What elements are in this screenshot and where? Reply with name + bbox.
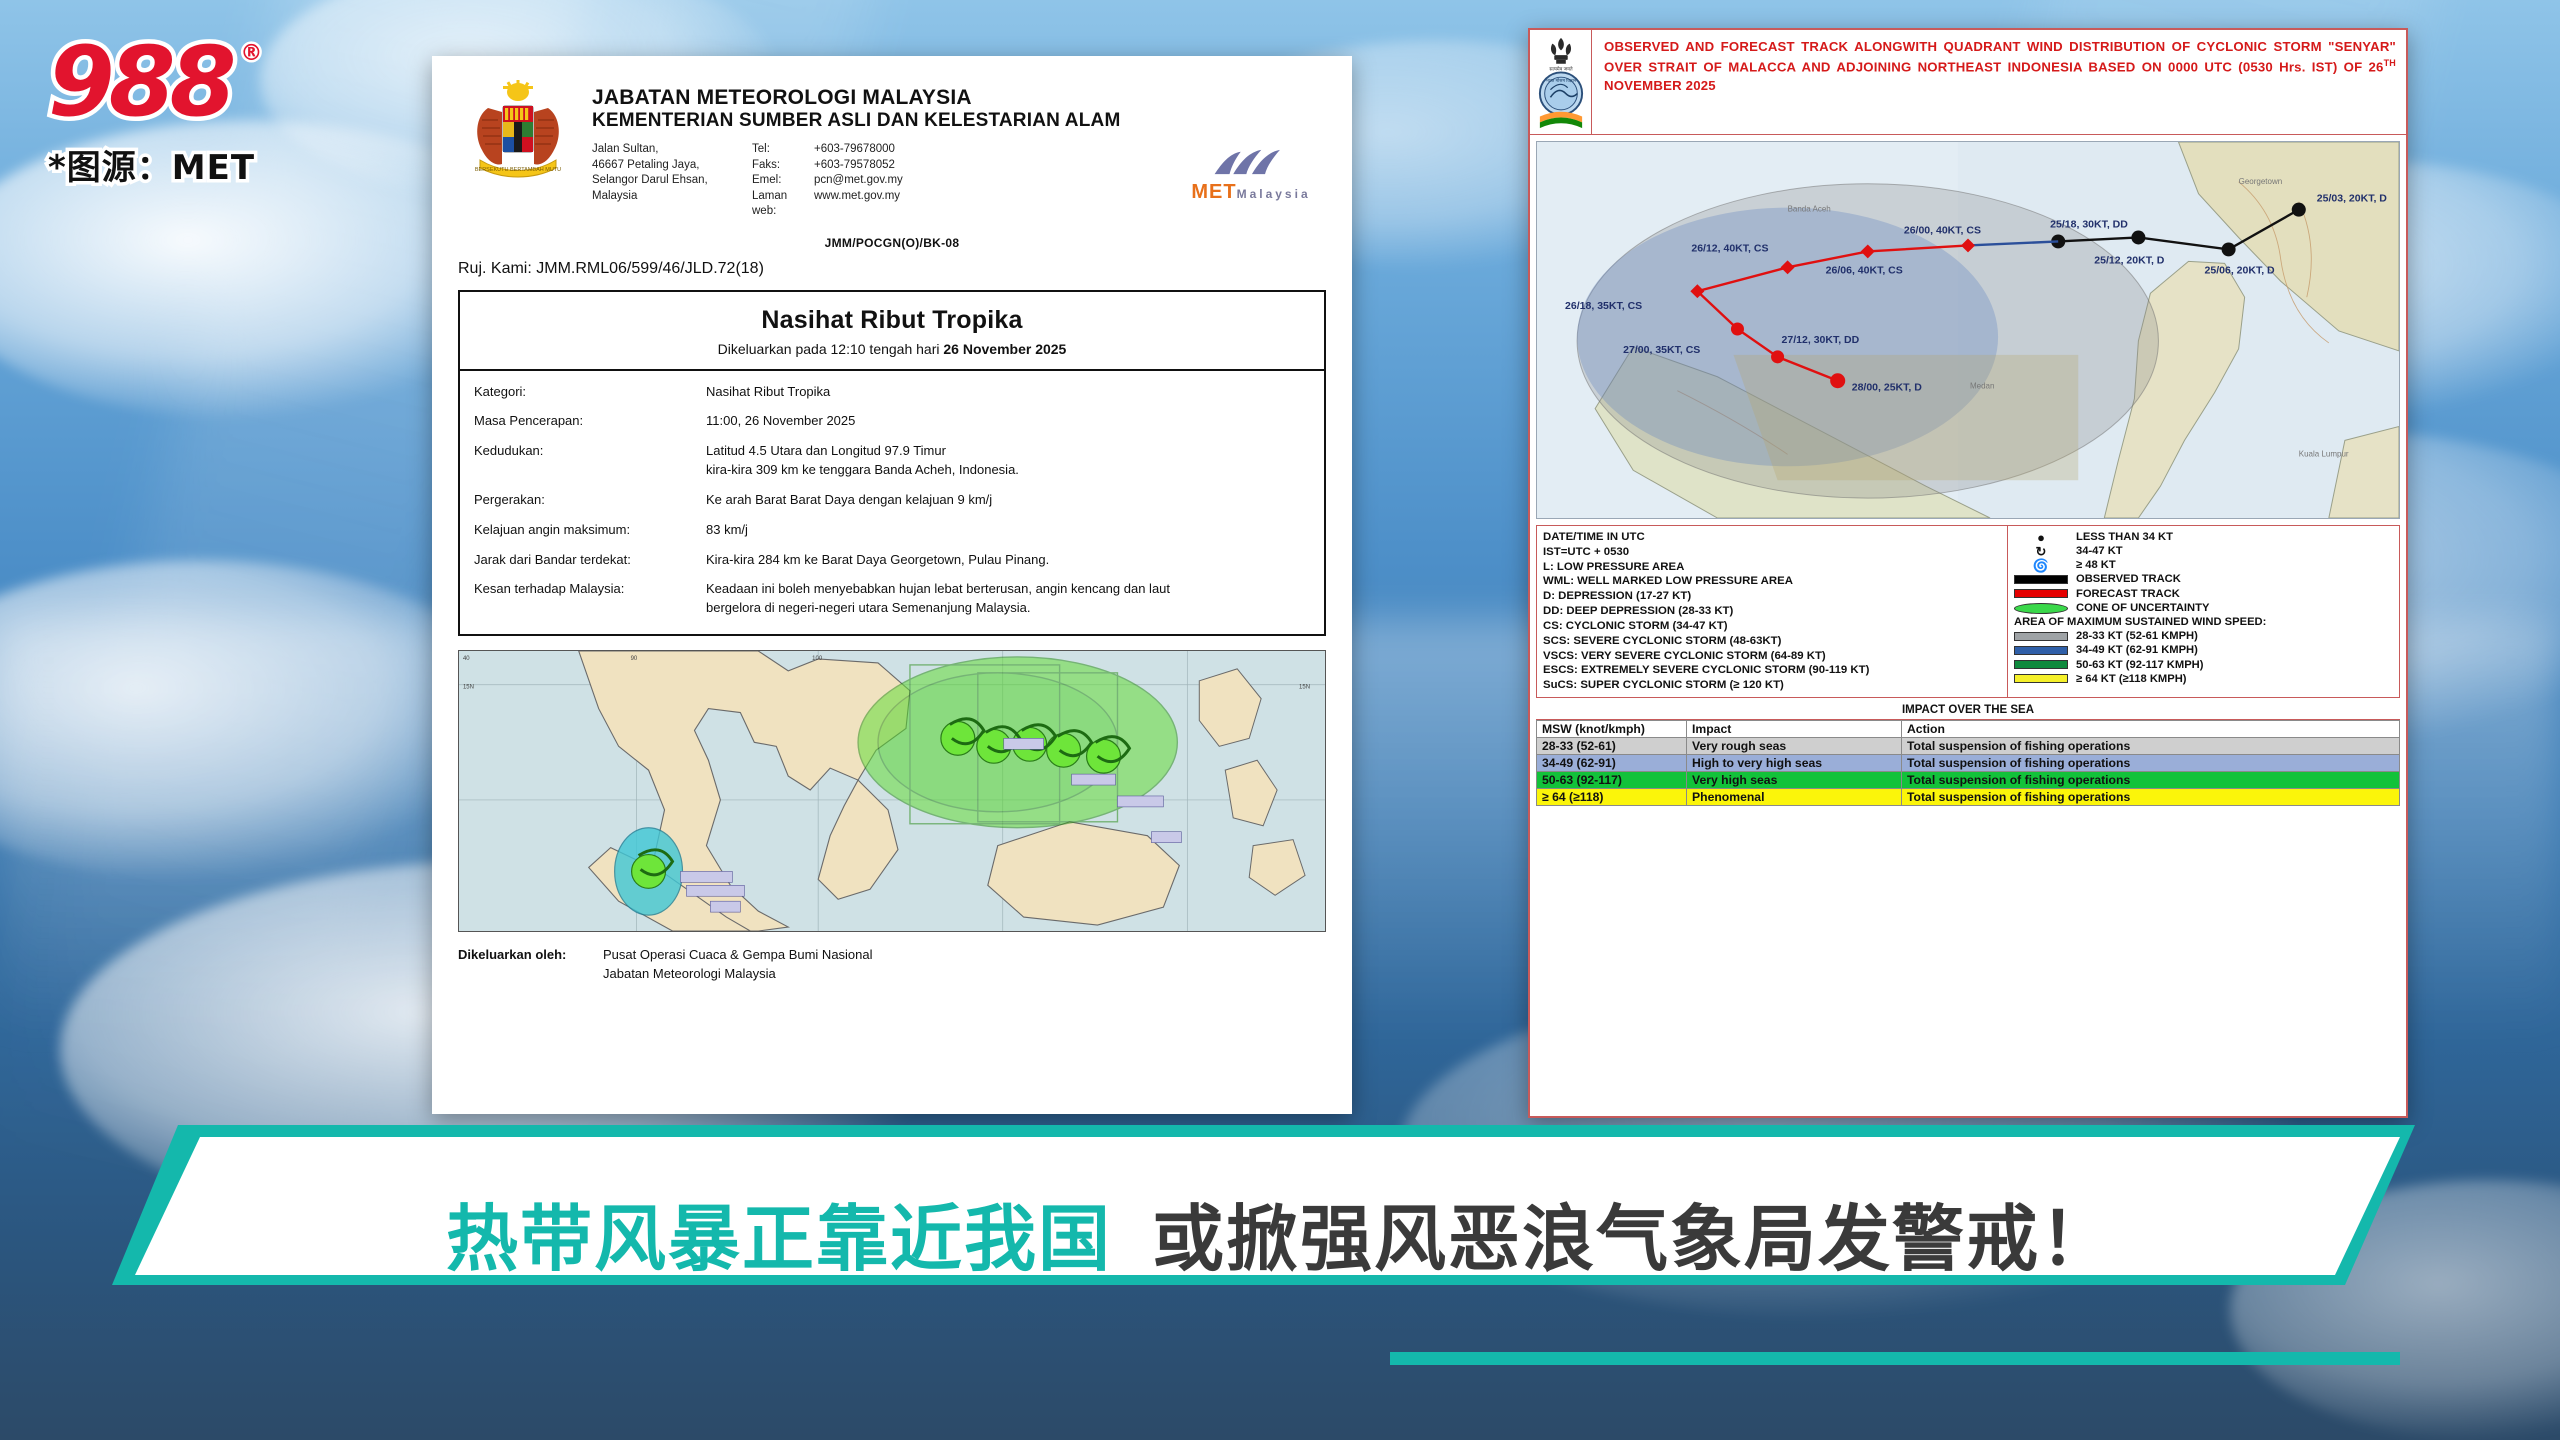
met-logo-wordmark: METMalaysia bbox=[1176, 181, 1326, 204]
legend-symbol-label: ≥ 48 KT bbox=[2076, 558, 2116, 573]
advisory-row-key: Masa Pencerapan: bbox=[474, 412, 706, 431]
issued-by-line2: Jabatan Meteorologi Malaysia bbox=[603, 965, 873, 984]
imd-track-map: 25/03, 20KT, D 25/06, 20KT, D 25/12, 20K… bbox=[1536, 141, 2400, 519]
imd-legend-abbreviations: DATE/TIME IN UTC IST=UTC + 0530 L: LOW P… bbox=[1537, 526, 2007, 697]
legend-line: L: LOW PRESSURE AREA bbox=[1543, 560, 2001, 575]
svg-text:Medan: Medan bbox=[1970, 382, 1994, 391]
document-reference: Ruj. Kami: JMM.RML06/599/46/JLD.72(18) bbox=[458, 260, 1326, 278]
imd-title-ordinal: TH bbox=[2384, 58, 2396, 68]
legend-wind-row: ≥ 64 KT (≥118 KMPH) bbox=[2014, 672, 2395, 686]
imd-legend-symbols: ● LESS THAN 34 KT ↻ 34-47 KT 🌀 ≥ 48 KT O… bbox=[2007, 526, 2399, 697]
contact-value: +603-79578052 bbox=[814, 158, 903, 174]
imd-header: सत्यमेव जयते भारत मौसम विज्ञान OBSERVED … bbox=[1530, 30, 2406, 135]
headline-banner: 热带风暴正靠近我国 或掀强风恶浪气象局发警戒！ bbox=[0, 1125, 2560, 1340]
svg-text:26/18, 35KT, CS: 26/18, 35KT, CS bbox=[1565, 301, 1642, 312]
issued-by-block: Dikeluarkan oleh: Pusat Operasi Cuaca & … bbox=[458, 946, 1326, 984]
advisory-title-cell: Nasihat Ribut Tropika Dikeluarkan pada 1… bbox=[460, 292, 1324, 371]
legend-symbol-label: 34-47 KT bbox=[2076, 544, 2123, 559]
advisory-row: Jarak dari Bandar terdekat: Kira-kira 28… bbox=[474, 551, 1310, 570]
table-row: 28-33 (52-61) Very rough seas Total susp… bbox=[1537, 738, 2400, 755]
met-contact-grid: Tel: +603-79678000 Faks: +603-79578052 E… bbox=[752, 142, 903, 220]
svg-text:Banda Aceh: Banda Aceh bbox=[1788, 205, 1831, 214]
station-logo-text: 988 bbox=[48, 26, 230, 138]
contact-label: Faks: bbox=[752, 158, 814, 174]
impact-cell-msw: 28-33 (52-61) bbox=[1537, 738, 1687, 755]
imd-legend: DATE/TIME IN UTC IST=UTC + 0530 L: LOW P… bbox=[1536, 525, 2400, 698]
imd-emblem-icon: सत्यमेव जयते भारत मौसम विज्ञान bbox=[1530, 30, 1592, 134]
legend-line: D: DEPRESSION (17-27 KT) bbox=[1543, 589, 2001, 604]
impact-cell-msw: ≥ 64 (≥118) bbox=[1537, 789, 1687, 806]
met-org-block: JABATAN METEOROLOGI MALAYSIA KEMENTERIAN… bbox=[592, 78, 1326, 220]
svg-text:BERSEKUTU BERTAMBAH MUTU: BERSEKUTU BERTAMBAH MUTU bbox=[475, 167, 561, 173]
impact-cell-msw: 50-63 (92-117) bbox=[1537, 772, 1687, 789]
imd-title: OBSERVED AND FORECAST TRACK ALONGWITH QU… bbox=[1592, 30, 2406, 134]
met-logo-subtext: Malaysia bbox=[1237, 187, 1311, 201]
svg-text:25/06, 20KT, D: 25/06, 20KT, D bbox=[2205, 265, 2276, 276]
address-line: Jalan Sultan, bbox=[592, 142, 742, 158]
headline-text: 热带风暴正靠近我国 或掀强风恶浪气象局发警戒！ bbox=[0, 1125, 2560, 1340]
address-line: Malaysia bbox=[592, 189, 742, 205]
svg-text:90: 90 bbox=[631, 656, 638, 662]
contact-label: Tel: bbox=[752, 142, 814, 158]
met-org-line1: JABATAN METEOROLOGI MALAYSIA bbox=[592, 86, 1326, 110]
legend-symbol-row: 🌀 ≥ 48 KT bbox=[2014, 558, 2395, 572]
station-logo-988: 988 ® bbox=[48, 38, 230, 126]
impact-cell-impact: Very high seas bbox=[1687, 772, 1902, 789]
svg-text:Georgetown: Georgetown bbox=[2239, 177, 2283, 186]
met-swoosh-icon bbox=[1209, 148, 1293, 176]
met-letterhead: BERSEKUTU BERTAMBAH MUTU JABATAN METEORO… bbox=[458, 78, 1326, 220]
legend-symbol-row: ● LESS THAN 34 KT bbox=[2014, 530, 2395, 544]
advisory-title: Nasihat Ribut Tropika bbox=[460, 306, 1324, 335]
legend-line: IST=UTC + 0530 bbox=[1543, 545, 2001, 560]
wind-swatch-64-plus bbox=[2014, 674, 2068, 683]
svg-text:28/00, 25KT, D: 28/00, 25KT, D bbox=[1852, 383, 1923, 394]
cyclone-swirl-small-icon: ↻ bbox=[2014, 545, 2068, 558]
impact-cell-impact: Phenomenal bbox=[1687, 789, 1902, 806]
met-regional-map: 4090100 15N15N bbox=[458, 650, 1326, 932]
contact-value: pcn@met.gov.my bbox=[814, 173, 903, 189]
svg-text:सत्यमेव जयते: सत्यमेव जयते bbox=[1549, 65, 1573, 72]
wind-swatch-34-49 bbox=[2014, 646, 2068, 655]
svg-text:15N: 15N bbox=[463, 685, 474, 691]
advisory-row-value: Latitud 4.5 Utara dan Longitud 97.9 Timu… bbox=[706, 442, 1310, 480]
advisory-row-value: 83 km/j bbox=[706, 521, 1310, 540]
address-line: 46667 Petaling Jaya, bbox=[592, 158, 742, 174]
contact-label: Laman web: bbox=[752, 189, 814, 220]
imd-cyclone-bulletin: सत्यमेव जयते भारत मौसम विज्ञान OBSERVED … bbox=[1528, 28, 2408, 1118]
source-credit: *图源：MET bbox=[48, 140, 288, 189]
legend-symbol-row: ↻ 34-47 KT bbox=[2014, 544, 2395, 558]
headline-part-2: 或掀强风恶浪气象局发警戒！ bbox=[1152, 1180, 2114, 1285]
advisory-row: Masa Pencerapan: 11:00, 26 November 2025 bbox=[474, 412, 1310, 431]
svg-text:25/18, 30KT, DD: 25/18, 30KT, DD bbox=[2050, 220, 2128, 231]
table-row: 34-49 (62-91) High to very high seas Tot… bbox=[1537, 755, 2400, 772]
svg-text:27/00, 35KT, CS: 27/00, 35KT, CS bbox=[1623, 345, 1700, 356]
svg-text:भारत मौसम विज्ञान: भारत मौसम विज्ञान bbox=[1545, 78, 1576, 83]
met-org-line2: KEMENTERIAN SUMBER ASLI DAN KELESTARIAN … bbox=[592, 110, 1326, 132]
svg-text:15N: 15N bbox=[1299, 685, 1310, 691]
headline-part-1: 热带风暴正靠近我国 bbox=[446, 1180, 1112, 1285]
met-malaysia-logo: METMalaysia bbox=[1176, 142, 1326, 204]
table-row: ≥ 64 (≥118) Phenomenal Total suspension … bbox=[1537, 789, 2400, 806]
impact-cell-action: Total suspension of fishing operations bbox=[1902, 772, 2400, 789]
legend-wind-label: 50-63 KT (92-117 KMPH) bbox=[2076, 658, 2203, 673]
advisory-row-value: Kira-kira 284 km ke Barat Daya Georgetow… bbox=[706, 551, 1310, 570]
svg-text:25/12, 20KT, D: 25/12, 20KT, D bbox=[2094, 255, 2165, 266]
impact-cell-action: Total suspension of fishing operations bbox=[1902, 789, 2400, 806]
contact-label: Emel: bbox=[752, 173, 814, 189]
legend-line: CS: CYCLONIC STORM (34-47 KT) bbox=[1543, 619, 2001, 634]
legend-track-row: FORECAST TRACK bbox=[2014, 587, 2395, 601]
impact-header-action: Action bbox=[1902, 721, 2400, 738]
table-row: 50-63 (92-117) Very high seas Total susp… bbox=[1537, 772, 2400, 789]
advisory-row: Kedudukan: Latitud 4.5 Utara dan Longitu… bbox=[474, 442, 1310, 480]
advisory-row: Kelajuan angin maksimum: 83 km/j bbox=[474, 521, 1310, 540]
met-advisory-document: BERSEKUTU BERTAMBAH MUTU JABATAN METEORO… bbox=[432, 56, 1352, 1114]
legend-wind-label: 28-33 KT (52-61 KMPH) bbox=[2076, 629, 2198, 644]
legend-track-row: CONE OF UNCERTAINTY bbox=[2014, 601, 2395, 615]
station-branding: 988 ® *图源：MET bbox=[48, 38, 288, 189]
advisory-issued-prefix: Dikeluarkan pada 12:10 tengah hari bbox=[718, 341, 944, 357]
impact-header-msw: MSW (knot/kmph) bbox=[1537, 721, 1687, 738]
met-address: Jalan Sultan, 46667 Petaling Jaya, Selan… bbox=[592, 142, 742, 204]
advisory-row-value: Keadaan ini boleh menyebabkan hujan leba… bbox=[706, 580, 1310, 618]
legend-wind-label: 34-49 KT (62-91 KMPH) bbox=[2076, 643, 2198, 658]
svg-text:25/03, 20KT, D: 25/03, 20KT, D bbox=[2317, 194, 2388, 205]
svg-text:26/06, 40KT, CS: 26/06, 40KT, CS bbox=[1826, 265, 1903, 276]
advisory-row-key: Jarak dari Bandar terdekat: bbox=[474, 551, 706, 570]
cone-of-uncertainty-swatch bbox=[2014, 603, 2068, 614]
legend-track-label: OBSERVED TRACK bbox=[2076, 572, 2181, 587]
legend-wind-header: AREA OF MAXIMUM SUSTAINED WIND SPEED: bbox=[2014, 615, 2395, 629]
svg-text:27/12, 30KT, DD: 27/12, 30KT, DD bbox=[1782, 335, 1860, 346]
impact-cell-impact: Very rough seas bbox=[1687, 738, 1902, 755]
advisory-row: Pergerakan: Ke arah Barat Barat Daya den… bbox=[474, 491, 1310, 510]
legend-line: SCS: SEVERE CYCLONIC STORM (48-63KT) bbox=[1543, 634, 2001, 649]
impact-cell-msw: 34-49 (62-91) bbox=[1537, 755, 1687, 772]
advisory-row: Kesan terhadap Malaysia: Keadaan ini bol… bbox=[474, 580, 1310, 618]
svg-text:26/12, 40KT, CS: 26/12, 40KT, CS bbox=[1691, 243, 1768, 254]
legend-track-label: FORECAST TRACK bbox=[2076, 587, 2180, 602]
legend-wind-row: 34-49 KT (62-91 KMPH) bbox=[2014, 644, 2395, 658]
issued-by-value: Pusat Operasi Cuaca & Gempa Bumi Nasiona… bbox=[603, 946, 873, 984]
wind-swatch-50-63 bbox=[2014, 660, 2068, 669]
advisory-row: Kategori: Nasihat Ribut Tropika bbox=[474, 383, 1310, 402]
legend-wind-row: 50-63 KT (92-117 KMPH) bbox=[2014, 658, 2395, 672]
cyclone-swirl-large-icon: 🌀 bbox=[2014, 559, 2068, 572]
met-logo-text: MET bbox=[1191, 181, 1236, 203]
impact-header-impact: Impact bbox=[1687, 721, 1902, 738]
advisory-row-key: Pergerakan: bbox=[474, 491, 706, 510]
svg-text:26/00, 40KT, CS: 26/00, 40KT, CS bbox=[1904, 226, 1981, 237]
legend-track-label: CONE OF UNCERTAINTY bbox=[2076, 601, 2209, 616]
advisory-row-key: Kedudukan: bbox=[474, 442, 706, 480]
svg-text:40: 40 bbox=[463, 656, 470, 662]
legend-line: VSCS: VERY SEVERE CYCLONIC STORM (64-89 … bbox=[1543, 649, 2001, 664]
issued-by-label: Dikeluarkan oleh: bbox=[458, 946, 603, 984]
advisory-issued-date: 26 November 2025 bbox=[943, 341, 1066, 357]
legend-line: ESCS: EXTREMELY SEVERE CYCLONIC STORM (9… bbox=[1543, 663, 2001, 678]
advisory-row-key: Kategori: bbox=[474, 383, 706, 402]
malaysia-coat-of-arms-icon: BERSEKUTU BERTAMBAH MUTU bbox=[458, 78, 578, 182]
advisory-issued-line: Dikeluarkan pada 12:10 tengah hari 26 No… bbox=[460, 341, 1324, 357]
advisory-row-value: 11:00, 26 November 2025 bbox=[706, 412, 1310, 431]
legend-wind-row: 28-33 KT (52-61 KMPH) bbox=[2014, 629, 2395, 643]
impact-table-caption: IMPACT OVER THE SEA bbox=[1536, 702, 2400, 720]
advisory-box: Nasihat Ribut Tropika Dikeluarkan pada 1… bbox=[458, 290, 1326, 637]
legend-line: SuCS: SUPER CYCLONIC STORM (≥ 120 KT) bbox=[1543, 678, 2001, 693]
issued-by-line1: Pusat Operasi Cuaca & Gempa Bumi Nasiona… bbox=[603, 946, 873, 965]
impact-cell-action: Total suspension of fishing operations bbox=[1902, 738, 2400, 755]
legend-wind-label: ≥ 64 KT (≥118 KMPH) bbox=[2076, 672, 2187, 687]
storm-dot-icon: ● bbox=[2014, 531, 2068, 544]
impact-over-sea-table: IMPACT OVER THE SEA MSW (knot/kmph) Impa… bbox=[1536, 702, 2400, 806]
svg-text:100: 100 bbox=[812, 656, 823, 662]
legend-line: WML: WELL MARKED LOW PRESSURE AREA bbox=[1543, 574, 2001, 589]
imd-title-tail: NOVEMBER 2025 bbox=[1604, 78, 1716, 93]
legend-line: DD: DEEP DEPRESSION (28-33 KT) bbox=[1543, 604, 2001, 619]
banner-accent-underbar bbox=[1390, 1352, 2400, 1365]
contact-value: www.met.gov.my bbox=[814, 189, 903, 220]
wind-swatch-28-33 bbox=[2014, 632, 2068, 641]
imd-title-main: OBSERVED AND FORECAST TRACK ALONGWITH QU… bbox=[1604, 39, 2396, 74]
contact-value: +603-79678000 bbox=[814, 142, 903, 158]
registered-trademark-icon: ® bbox=[240, 44, 256, 64]
observed-track-swatch bbox=[2014, 575, 2068, 584]
forecast-track-swatch bbox=[2014, 589, 2068, 598]
legend-line: DATE/TIME IN UTC bbox=[1543, 530, 2001, 545]
svg-text:Kuala Lumpur: Kuala Lumpur bbox=[2299, 449, 2349, 458]
advisory-row-key: Kesan terhadap Malaysia: bbox=[474, 580, 706, 618]
impact-table-header-row: MSW (knot/kmph) Impact Action bbox=[1537, 721, 2400, 738]
impact-cell-action: Total suspension of fishing operations bbox=[1902, 755, 2400, 772]
advisory-row-key: Kelajuan angin maksimum: bbox=[474, 521, 706, 540]
impact-cell-impact: High to very high seas bbox=[1687, 755, 1902, 772]
legend-symbol-label: LESS THAN 34 KT bbox=[2076, 530, 2173, 545]
address-line: Selangor Darul Ehsan, bbox=[592, 173, 742, 189]
advisory-rows: Kategori: Nasihat Ribut Tropika Masa Pen… bbox=[460, 371, 1324, 635]
met-contact-block: Jalan Sultan, 46667 Petaling Jaya, Selan… bbox=[592, 142, 1326, 220]
advisory-row-value: Ke arah Barat Barat Daya dengan kelajuan… bbox=[706, 491, 1310, 510]
legend-track-row: OBSERVED TRACK bbox=[2014, 573, 2395, 587]
document-code: JMM/POCGN(O)/BK-08 bbox=[458, 236, 1326, 250]
advisory-row-value: Nasihat Ribut Tropika bbox=[706, 383, 1310, 402]
